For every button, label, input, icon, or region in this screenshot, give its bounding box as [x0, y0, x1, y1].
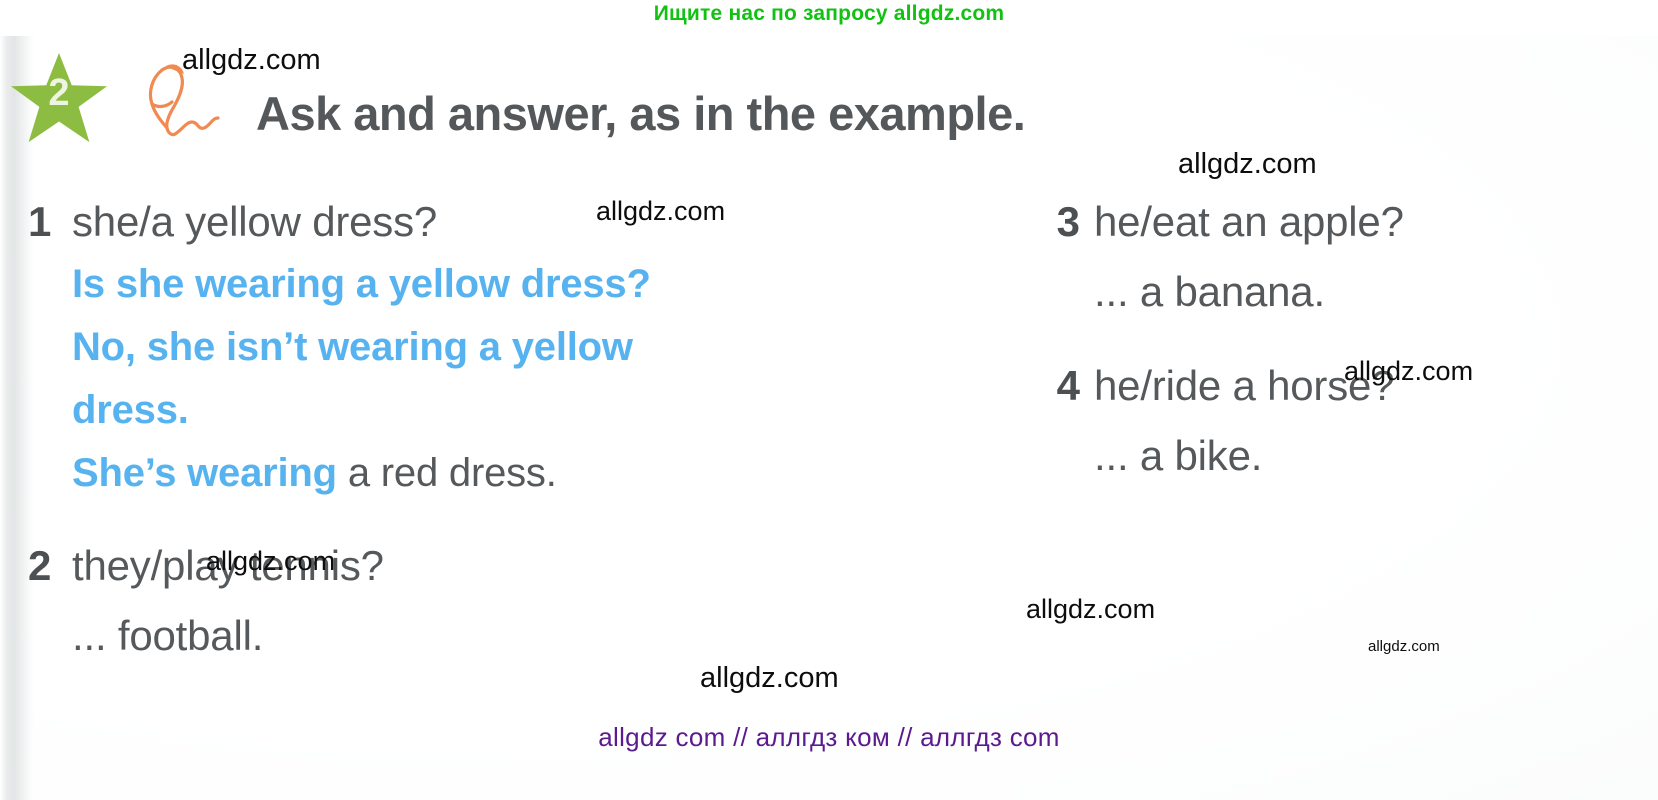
right-column: 3 he/eat an apple? ... a banana. 4 he/ri…: [1020, 198, 1658, 480]
task-item-2: 2 they/play tennis? ... football.: [28, 542, 928, 660]
exercise-star-badge: 2: [10, 50, 108, 148]
task-row: 2 they/play tennis?: [28, 542, 928, 590]
task-item-1: 1 she/a yellow dress? Is she wearing a y…: [28, 198, 928, 496]
task-number-4: 4: [1020, 362, 1094, 410]
task-row: 1 she/a yellow dress?: [28, 198, 928, 246]
task-continuation-2: ... football.: [28, 612, 928, 660]
task-continuation-3: ... a banana.: [1020, 268, 1658, 316]
footer-text: allgdz com // аллгдз ком // аллгдз com: [0, 722, 1658, 753]
pen-doodle-icon: [128, 52, 238, 152]
promo-banner-text: Ищите нас по запросу allgdz.com: [0, 2, 1658, 26]
task-row: 4 he/ride a horse?: [1020, 362, 1658, 410]
task-number-1: 1: [28, 198, 72, 246]
task-item-3: 3 he/eat an apple? ... a banana.: [1020, 198, 1658, 316]
task-item-4: 4 he/ride a horse? ... a bike.: [1020, 362, 1658, 480]
watermark-allgdz: allgdz.com: [1178, 148, 1317, 181]
task-number-3: 3: [1020, 198, 1094, 246]
watermark-allgdz: allgdz.com: [1026, 594, 1155, 625]
task-prompt-2: they/play tennis?: [72, 542, 384, 590]
page-title: Ask and answer, as in the example.: [256, 86, 1025, 141]
watermark-allgdz-small: allgdz.com: [1368, 638, 1440, 655]
answer-line-1c: dress.: [72, 388, 928, 433]
task-prompt-3: he/eat an apple?: [1094, 198, 1404, 246]
answer-segment-blue: She’s wearing: [72, 451, 337, 495]
answer-line-1a: Is she wearing a yellow dress?: [72, 262, 928, 307]
task-prompt-4: he/ride a horse?: [1094, 362, 1394, 410]
answer-segment-plain: a red dress.: [337, 451, 557, 495]
task-number-2: 2: [28, 542, 72, 590]
task-prompt-1: she/a yellow dress?: [72, 198, 437, 246]
textbook-page: Ищите нас по запросу allgdz.com 2 Ask an…: [0, 0, 1658, 800]
task-row: 3 he/eat an apple?: [1020, 198, 1658, 246]
left-column: 1 she/a yellow dress? Is she wearing a y…: [28, 198, 928, 660]
task-continuation-4: ... a bike.: [1020, 432, 1658, 480]
answer-line-1b: No, she isn’t wearing a yellow: [72, 325, 928, 370]
exercise-number: 2: [10, 50, 108, 148]
answer-line-1d: She’s wearing a red dress.: [72, 451, 928, 496]
watermark-allgdz: allgdz.com: [700, 662, 839, 695]
